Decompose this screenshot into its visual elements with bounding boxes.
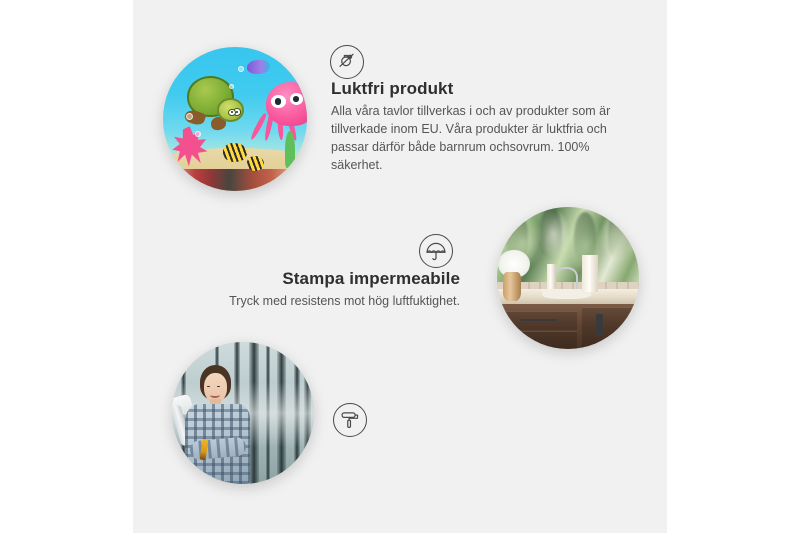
forest-painter-photo — [172, 342, 314, 484]
vase — [503, 272, 521, 300]
purple-fish — [247, 60, 270, 74]
yellow-fish — [223, 143, 246, 162]
feature-title: Luktfri produkt — [331, 78, 621, 99]
paint-roller-icon — [333, 403, 367, 437]
feature-description: Alla våra tavlor tillverkas i och av pro… — [331, 103, 621, 174]
bubble — [238, 66, 244, 72]
no-fragrance-icon — [330, 45, 364, 79]
bathroom-leaf-wallpaper-photo — [497, 207, 639, 349]
ocean-bottom-strip — [163, 169, 307, 191]
feature-text-stampa-impermeabile: Stampa impermeabile Tryck med resistens … — [160, 268, 460, 311]
product-feature-infographic: Luktfri produkt Alla våra tavlor tillver… — [0, 0, 800, 533]
faucet — [554, 267, 578, 289]
turtle — [185, 76, 243, 125]
feature-title: Stampa impermeabile — [160, 268, 460, 289]
umbrella-icon — [419, 234, 453, 268]
feature-text-luktfri-produkt: Luktfri produkt Alla våra tavlor tillver… — [331, 78, 621, 174]
vanity-cabinet — [497, 304, 639, 349]
dispenser-bottle — [582, 255, 598, 292]
octopus — [255, 82, 307, 142]
woman-painter — [181, 365, 261, 484]
yellow-fish-small — [247, 156, 264, 170]
feature-description: Tryck med resistens mot hög luftfuktighe… — [160, 293, 460, 311]
soap-bottle — [547, 264, 556, 290]
bubble — [195, 131, 201, 137]
underwater-cartoon-photo — [163, 47, 307, 191]
